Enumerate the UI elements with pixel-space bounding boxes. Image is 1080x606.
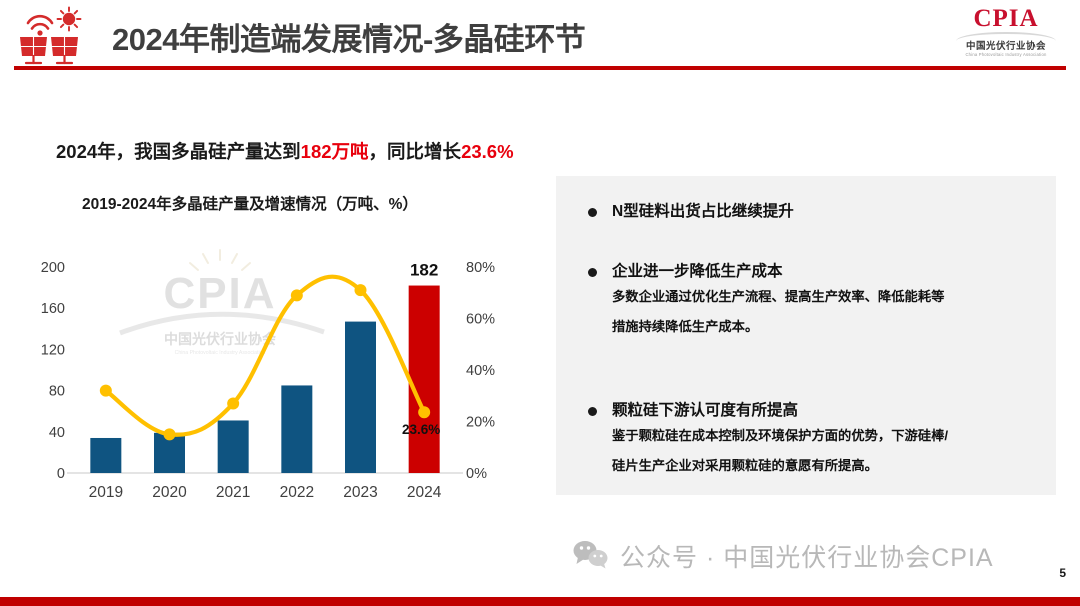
slide-root: 2024年制造端发展情况-多晶硅环节 CPIA 中国光伏行业协会 China P… <box>0 0 1080 606</box>
key-point-body-line: 措施持续降低生产成本。 <box>556 312 1056 342</box>
y-tick-left: 120 <box>41 342 65 358</box>
y-tick-left: 80 <box>49 384 65 400</box>
polysilicon-output-chart: CPIA中国光伏行业协会China Photovoltaic Industry … <box>24 248 524 506</box>
x-tick-2021: 2021 <box>216 484 250 501</box>
y-tick-left: 160 <box>41 301 65 317</box>
svg-text:CPIA: CPIA <box>163 269 276 318</box>
y-tick-right: 80% <box>466 260 495 276</box>
bar-2021 <box>218 420 249 473</box>
x-tick-2023: 2023 <box>343 484 377 501</box>
headline: 2024年，我国多晶硅产量达到182万吨，同比增长23.6% <box>56 138 514 164</box>
chart-title: 2019-2024年多晶硅产量及增速情况（万吨、%） <box>82 192 418 214</box>
key-point-heading: 企业进一步降低生产成本 <box>556 262 1056 282</box>
bullet-icon <box>588 208 597 217</box>
bar-2022 <box>281 385 312 473</box>
x-axis-labels: 201920202021202220232024 <box>89 484 442 501</box>
wechat-icon <box>572 539 610 574</box>
x-tick-2020: 2020 <box>152 484 187 501</box>
bullet-icon <box>588 407 597 416</box>
cpia-logo-swoosh <box>956 32 1056 41</box>
y-tick-left: 40 <box>49 425 65 441</box>
bar-2023 <box>345 322 376 473</box>
y-tick-right: 0% <box>466 466 487 482</box>
bar-data-label-2024: 182 <box>410 261 438 280</box>
x-tick-2022: 2022 <box>280 484 314 501</box>
key-point-body-line: 硅片生产企业对采用颗粒硅的意愿有所提高。 <box>556 451 1056 481</box>
headline-part1: 2024年，我国多晶硅产量达到 <box>56 141 301 162</box>
slide-header: 2024年制造端发展情况-多晶硅环节 CPIA 中国光伏行业协会 China P… <box>0 0 1080 74</box>
key-points-panel: N型硅料出货占比继续提升企业进一步降低生产成本多数企业通过优化生产流程、提高生产… <box>556 176 1056 495</box>
y-tick-right: 40% <box>466 363 495 379</box>
y-tick-right: 60% <box>466 312 495 328</box>
headline-part2: ，同比增长 <box>369 141 462 162</box>
footer-divider <box>0 597 1080 606</box>
key-point-heading-text: 颗粒硅下游认可度有所提高 <box>612 402 798 419</box>
page-title: 2024年制造端发展情况-多晶硅环节 <box>112 14 585 59</box>
key-point-heading-text: 企业进一步降低生产成本 <box>612 263 783 280</box>
y-axis-left-labels: 04080120160200 <box>41 260 65 482</box>
solar-panel-wifi-sun-icon <box>12 6 88 68</box>
footer-wechat-text: 公众号 · 中国光伏行业协会CPIA <box>620 538 994 574</box>
line-point-2022 <box>291 289 303 301</box>
page-number: 5 <box>1059 566 1066 580</box>
svg-text:中国光伏行业协会: 中国光伏行业协会 <box>164 331 277 347</box>
chart-watermark: CPIA中国光伏行业协会China Photovoltaic Industry … <box>120 250 324 356</box>
key-point-body-line: 多数企业通过优化生产流程、提高生产效率、降低能耗等 <box>556 282 1056 312</box>
bullet-icon <box>588 268 597 277</box>
header-divider <box>14 66 1066 70</box>
key-point-2: 企业进一步降低生产成本多数企业通过优化生产流程、提高生产效率、降低能耗等措施持续… <box>556 262 1056 342</box>
x-tick-2024: 2024 <box>407 484 442 501</box>
bar-2019 <box>90 438 121 473</box>
x-tick-2019: 2019 <box>89 484 123 501</box>
cpia-logo: CPIA 中国光伏行业协会 China Photovoltaic Industr… <box>954 6 1058 62</box>
line-data-label-2024: 23.6% <box>402 422 440 437</box>
key-point-body-line: 鉴于颗粒硅在成本控制及环境保护方面的优势，下游硅棒/ <box>556 421 1056 451</box>
cpia-logo-word: CPIA <box>954 6 1058 32</box>
line-point-2024 <box>418 406 430 418</box>
headline-highlight-growth: 23.6% <box>461 141 513 162</box>
headline-highlight-output: 182万吨 <box>301 141 369 162</box>
key-point-1: N型硅料出货占比继续提升 <box>556 202 1056 222</box>
y-tick-left: 200 <box>41 260 65 276</box>
y-tick-right: 20% <box>466 415 495 431</box>
svg-text:China Photovoltaic Industry As: China Photovoltaic Industry Association <box>175 350 266 356</box>
key-point-heading: 颗粒硅下游认可度有所提高 <box>556 401 1056 421</box>
line-point-2019 <box>100 385 112 397</box>
line-point-2023 <box>355 284 367 296</box>
key-point-heading-text: N型硅料出货占比继续提升 <box>612 203 794 220</box>
y-tick-left: 0 <box>57 466 65 482</box>
y-axis-right-labels: 0%20%40%60%80% <box>466 260 495 482</box>
line-point-2021 <box>227 397 239 409</box>
chart-canvas: CPIA中国光伏行业协会China Photovoltaic Industry … <box>24 248 524 506</box>
bar-2024 <box>409 286 440 473</box>
cpia-logo-en-name: China Photovoltaic Industry Association <box>954 52 1058 58</box>
key-point-3: 颗粒硅下游认可度有所提高鉴于颗粒硅在成本控制及环境保护方面的优势，下游硅棒/硅片… <box>556 401 1056 481</box>
cpia-logo-cn-name: 中国光伏行业协会 <box>954 41 1058 52</box>
footer-wechat: 公众号 · 中国光伏行业协会CPIA <box>572 538 994 574</box>
line-point-2020 <box>164 428 176 440</box>
key-point-heading: N型硅料出货占比继续提升 <box>556 202 1056 222</box>
